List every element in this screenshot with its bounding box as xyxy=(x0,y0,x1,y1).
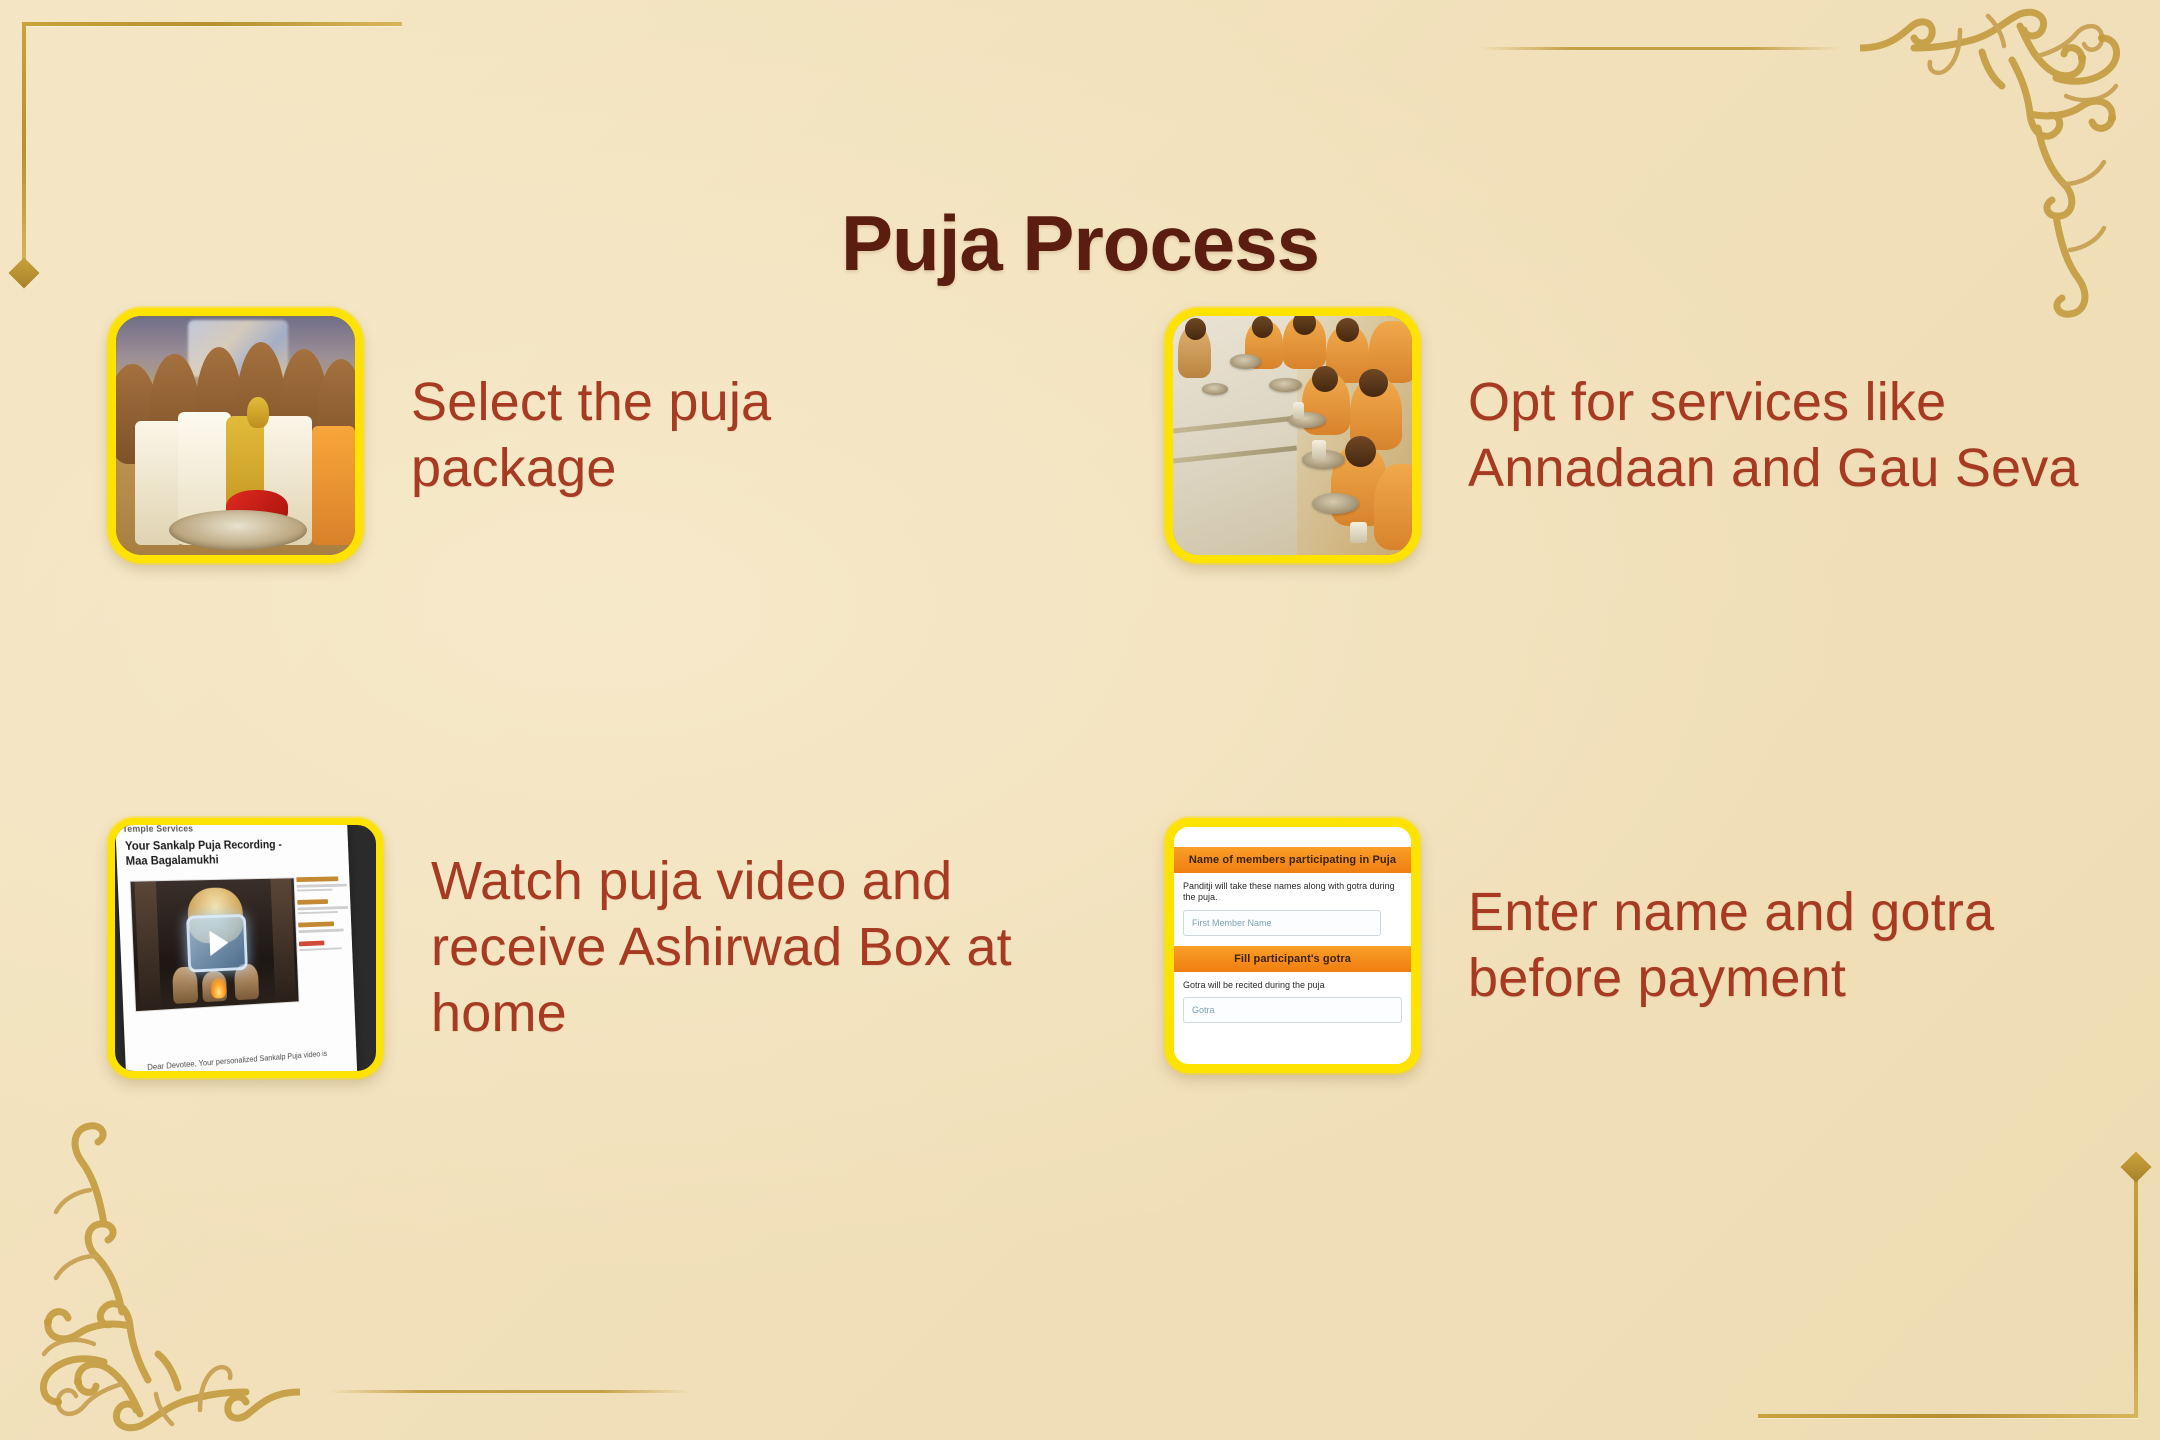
sankalp-video-email-screenshot: Temple Services Your Sankalp Puja Record… xyxy=(108,818,383,1078)
email-subject: Your Sankalp Puja Recording - Maa Bagala… xyxy=(125,838,294,869)
email-sidebar xyxy=(296,876,350,959)
form-section-header-names: Name of members participating in Puja xyxy=(1174,847,1411,873)
step-2-thumbnail[interactable] xyxy=(1165,308,1420,563)
gotra-form-screenshot: Name of members participating in Puja Pa… xyxy=(1165,818,1420,1073)
first-member-name-input[interactable]: First Member Name xyxy=(1183,910,1381,936)
email-brand-label: Temple Services xyxy=(122,824,193,834)
process-step-2: Opt for services like Annadaan and Gau S… xyxy=(1165,308,2085,563)
step-4-thumbnail[interactable]: Name of members participating in Puja Pa… xyxy=(1165,818,1420,1073)
form-note-gotra: Gotra will be recited during the puja xyxy=(1174,972,1411,997)
page-title: Puja Process xyxy=(0,204,2160,282)
gold-corner-line-bottom-right xyxy=(1758,1168,2138,1418)
step-1-label: Select the puja package xyxy=(411,370,971,502)
form-section-header-gotra: Fill participant's gotra xyxy=(1174,946,1411,972)
step-2-label: Opt for services like Annadaan and Gau S… xyxy=(1468,370,2085,502)
gotra-input[interactable]: Gotra xyxy=(1183,997,1402,1023)
gold-filigree-ornament-bottom-left xyxy=(0,1110,300,1440)
step-4-label: Enter name and gotra before payment xyxy=(1468,880,2095,1012)
process-step-3: Temple Services Your Sankalp Puja Record… xyxy=(108,818,1118,1078)
corner-line-horizontal xyxy=(1758,1414,2138,1418)
step-1-thumbnail[interactable] xyxy=(108,308,363,563)
puja-ritual-photo xyxy=(108,308,363,563)
process-step-1: Select the puja package xyxy=(108,308,1008,563)
process-step-4: Name of members participating in Puja Pa… xyxy=(1165,818,2095,1073)
video-player[interactable] xyxy=(130,877,300,1012)
annadaan-photo xyxy=(1165,308,1420,563)
filigree-icon xyxy=(0,1110,300,1440)
corner-line-vertical xyxy=(2134,1168,2138,1418)
corner-diamond-icon xyxy=(2120,1151,2151,1182)
slide-canvas: Puja Process xyxy=(0,0,2160,1440)
email-body-text: Dear Devotee, Your personalized Sankalp … xyxy=(147,1048,331,1078)
corner-line-horizontal xyxy=(22,22,402,26)
gold-rule-bottom xyxy=(330,1390,690,1393)
gold-rule-top xyxy=(1480,47,1840,50)
play-icon[interactable] xyxy=(186,914,248,973)
step-3-label: Watch puja video and receive Ashirwad Bo… xyxy=(431,849,1118,1047)
step-3-thumbnail[interactable]: Temple Services Your Sankalp Puja Record… xyxy=(108,818,383,1078)
form-note-names: Panditji will take these names along wit… xyxy=(1174,873,1411,910)
